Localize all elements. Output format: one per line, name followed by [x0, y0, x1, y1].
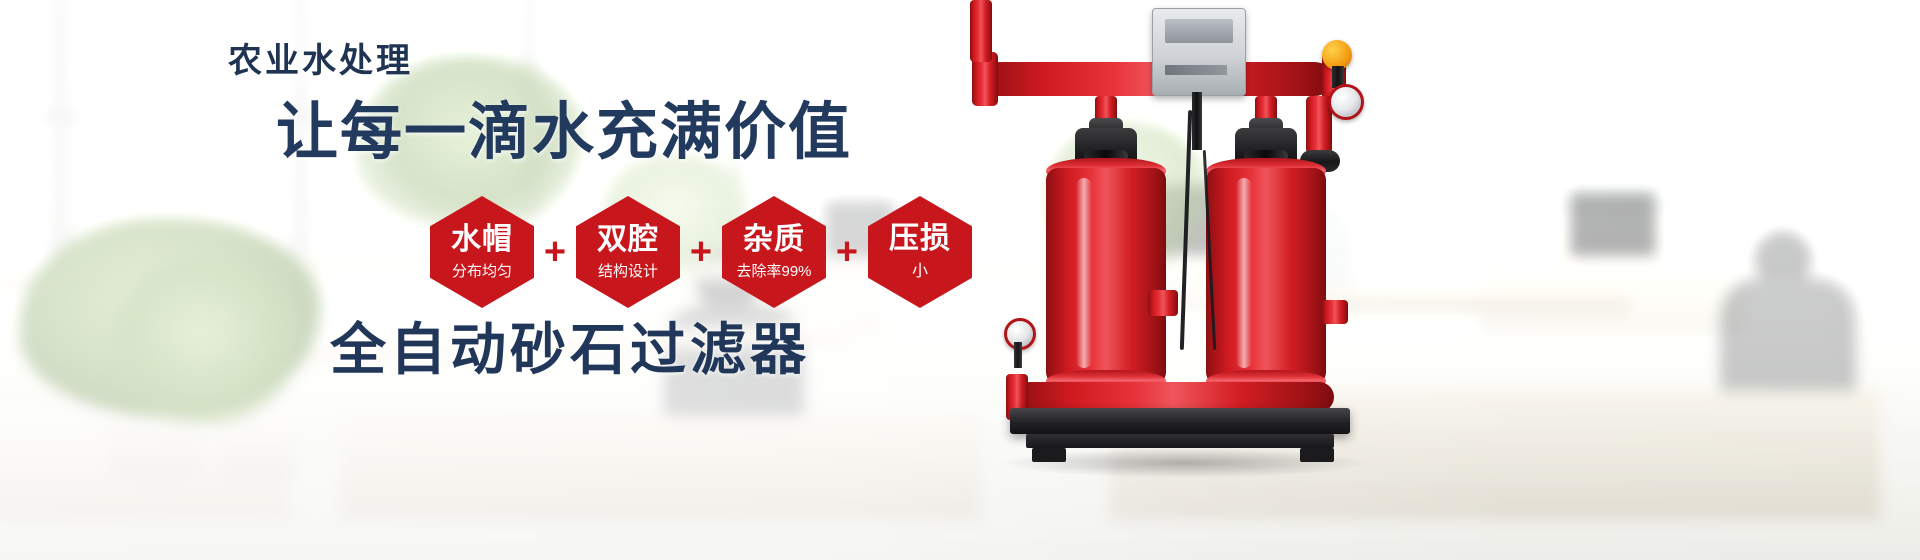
control-box — [1152, 8, 1246, 96]
left-tank — [1046, 168, 1166, 386]
promo-banner: 农业水处理 让每一滴水充满价值 水帽 分布均匀 + 双腔 结构设计 + 杂质 去… — [0, 0, 1920, 560]
base-foot — [1300, 448, 1334, 462]
feature-badge-4: 压损 小 — [868, 196, 972, 308]
pressure-gauge — [1328, 84, 1364, 120]
feature-badge-1: 水帽 分布均匀 — [430, 196, 534, 308]
headline-text: 让每一滴水充满价值 — [276, 100, 852, 167]
badge-subtitle: 分布均匀 — [452, 264, 512, 279]
badge-subtitle: 去除率99% — [736, 264, 811, 279]
badge-title: 水帽 — [451, 225, 513, 255]
badge-separator-plus-icon: + — [680, 233, 722, 271]
badge-title: 杂质 — [743, 225, 805, 255]
tank-highlight — [1076, 178, 1092, 368]
badge-separator-plus-icon: + — [826, 233, 868, 271]
eyebrow-text: 农业水处理 — [228, 44, 413, 78]
feature-badge-3: 杂质 去除率99% — [722, 196, 826, 308]
control-box-logo — [1165, 65, 1227, 75]
base-foot — [1032, 448, 1066, 462]
badge-title: 压损 — [889, 224, 951, 254]
badge-subtitle: 结构设计 — [598, 264, 658, 279]
right-tank — [1206, 168, 1326, 386]
gauge-stem — [1014, 342, 1022, 368]
base-skid-lower — [1026, 434, 1334, 448]
product-sand-filter — [970, 0, 1490, 560]
product-tagline: 全自动砂石过滤器 — [330, 322, 810, 378]
badge-separator-plus-icon: + — [534, 233, 576, 271]
control-box-mount — [1192, 92, 1202, 150]
side-nozzle — [1148, 290, 1178, 316]
base-skid — [1010, 408, 1350, 434]
feature-badge-row: 水帽 分布均匀 + 双腔 结构设计 + 杂质 去除率99% + 压损 小 — [430, 196, 972, 308]
tank-highlight — [1236, 178, 1252, 368]
control-cable — [1180, 110, 1192, 350]
badge-title: 双腔 — [597, 225, 659, 255]
feature-badge-2: 双腔 结构设计 — [576, 196, 680, 308]
banner-text-content: 农业水处理 让每一滴水充满价值 水帽 分布均匀 + 双腔 结构设计 + 杂质 去… — [0, 0, 1000, 560]
badge-subtitle: 小 — [912, 264, 928, 280]
control-box-screen — [1165, 19, 1233, 43]
side-nozzle — [1322, 300, 1348, 324]
